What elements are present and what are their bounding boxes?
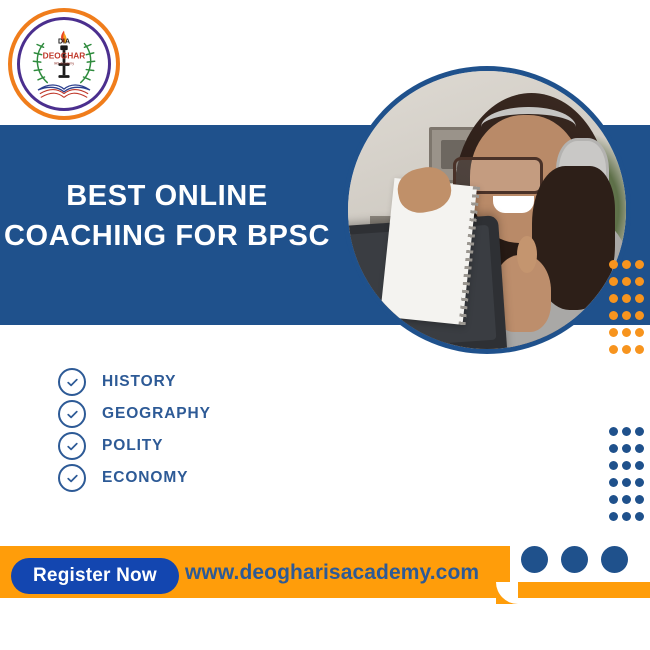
list-item: ECONOMY (58, 462, 211, 494)
dot (622, 495, 631, 504)
footer-corner-notch (496, 582, 518, 604)
dot (609, 260, 618, 269)
photo-headphone-band (481, 107, 576, 147)
dot (622, 277, 631, 286)
dot (635, 512, 644, 521)
blue-dot-grid (609, 427, 648, 529)
dot (609, 345, 618, 354)
dot (622, 345, 631, 354)
dot (622, 512, 631, 521)
subject-label: POLITY (102, 437, 163, 455)
dot (622, 478, 631, 487)
dot (609, 444, 618, 453)
dot (622, 461, 631, 470)
register-now-button[interactable]: Register Now (11, 558, 179, 594)
check-circle-icon (58, 368, 86, 396)
dot (609, 461, 618, 470)
dot (609, 311, 618, 320)
dot (622, 311, 631, 320)
dot (622, 328, 631, 337)
subject-label: GEOGRAPHY (102, 405, 211, 423)
dot (635, 328, 644, 337)
dot (635, 311, 644, 320)
dot (635, 260, 644, 269)
headline-line-2: COACHING FOR BPSC (0, 216, 334, 256)
subject-list: HISTORY GEOGRAPHY POLITY ECONOMY (58, 366, 211, 494)
orange-dot-grid (609, 260, 648, 362)
student-photo (348, 71, 626, 349)
academy-logo: DIA DEOGHAR IAS Academy (8, 8, 120, 120)
headline: BEST ONLINE COACHING FOR BPSC (0, 176, 334, 256)
check-circle-icon (58, 432, 86, 460)
dot (609, 277, 618, 286)
dot (609, 328, 618, 337)
dot (622, 294, 631, 303)
dot (635, 444, 644, 453)
dot (609, 478, 618, 487)
dot (635, 461, 644, 470)
dot (609, 495, 618, 504)
list-item: HISTORY (58, 366, 211, 398)
svg-text:IAS Academy: IAS Academy (54, 61, 74, 65)
list-item: GEOGRAPHY (58, 398, 211, 430)
dot (609, 427, 618, 436)
check-circle-icon (58, 464, 86, 492)
dot (635, 427, 644, 436)
subject-label: HISTORY (102, 373, 176, 391)
photo-smile (493, 196, 535, 213)
dot (609, 512, 618, 521)
dot (609, 294, 618, 303)
subject-label: ECONOMY (102, 469, 188, 487)
dot (635, 277, 644, 286)
dot (635, 478, 644, 487)
student-photo-circle (343, 66, 631, 354)
svg-text:DIA: DIA (58, 39, 70, 46)
dot (635, 495, 644, 504)
dot (622, 427, 631, 436)
headline-line-1: BEST ONLINE (66, 180, 268, 212)
dot (622, 444, 631, 453)
logo-emblem-icon: DIA DEOGHAR IAS Academy (12, 12, 116, 116)
website-url[interactable]: www.deogharisacademy.com (185, 561, 479, 585)
check-circle-icon (58, 400, 86, 428)
dot (635, 294, 644, 303)
dot (622, 260, 631, 269)
svg-text:DEOGHAR: DEOGHAR (43, 50, 86, 60)
promo-banner: BEST ONLINE COACHING FOR BPSC DIA DEOGHA… (0, 0, 650, 650)
list-item: POLITY (58, 430, 211, 462)
dot (635, 345, 644, 354)
